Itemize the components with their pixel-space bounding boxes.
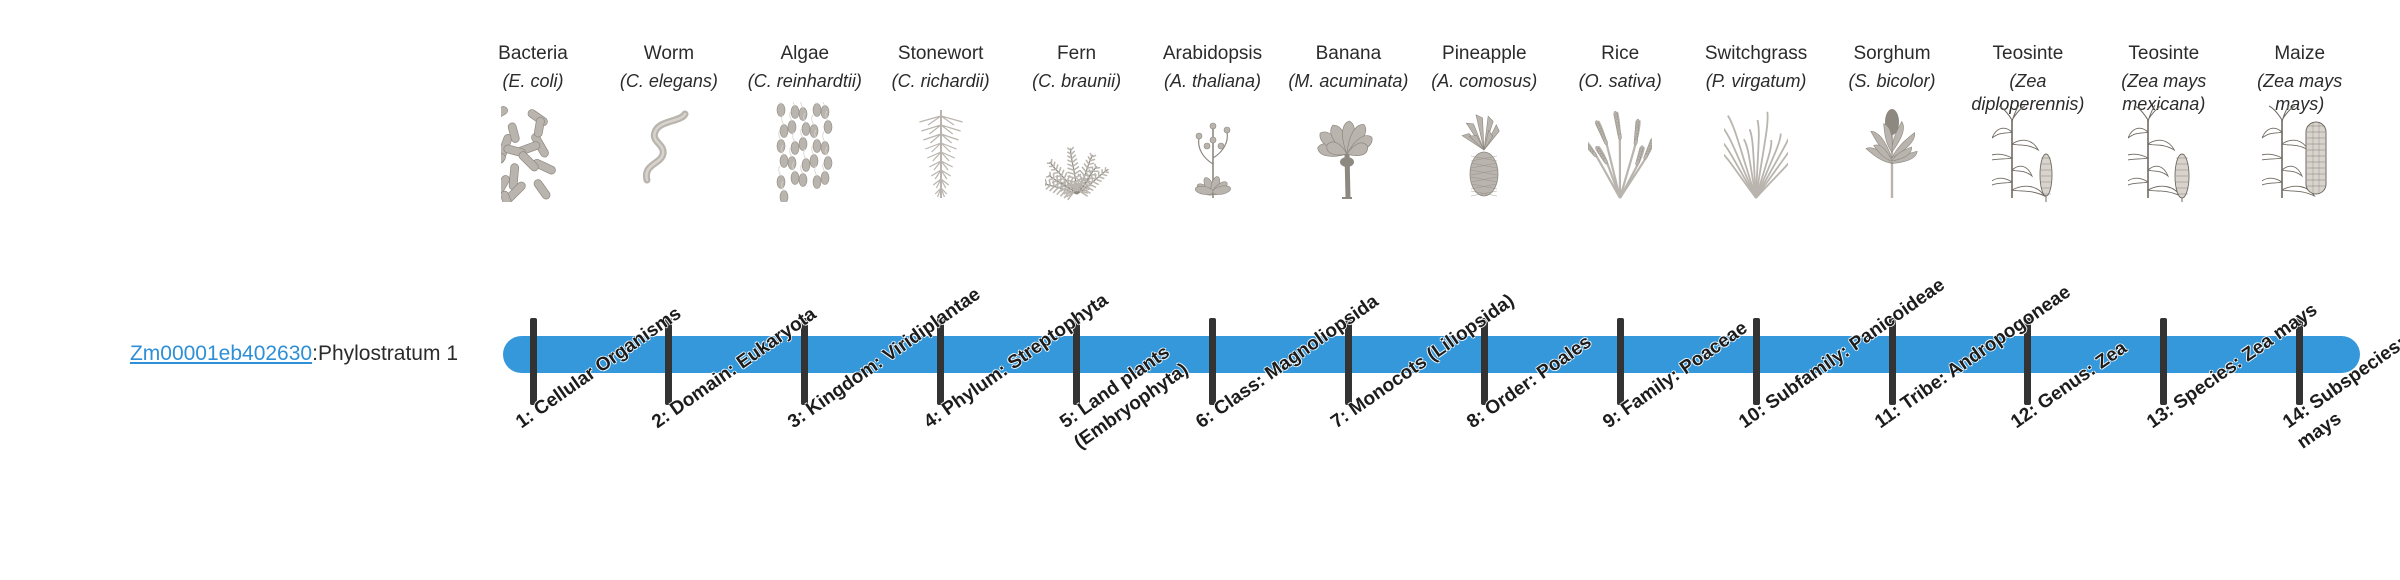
species-scientific-name: (O. sativa): [1555, 70, 1685, 93]
species-common-name: Sorghum: [1827, 42, 1957, 65]
species-common-name: Teosinte: [1963, 42, 2093, 65]
rank-number: 11:: [1871, 400, 1905, 432]
phylostratum-value: Phylostratum 1: [318, 342, 458, 366]
teosinte-mexicana-icon: [2099, 112, 2229, 202]
arabidopsis-icon: [1148, 112, 1278, 202]
switchgrass-icon: [1691, 112, 1821, 202]
species-scientific-name: (S. bicolor): [1827, 70, 1957, 93]
stonewort-icon: [876, 112, 1006, 202]
species-scientific-name: (C. reinhardtii): [740, 70, 870, 93]
species-common-name: Fern: [1012, 42, 1142, 65]
algae-icon: [740, 112, 870, 202]
species-common-name: Maize: [2235, 42, 2365, 65]
species-scientific-name: (E. coli): [468, 70, 598, 93]
species-common-name: Stonewort: [876, 42, 1006, 65]
sorghum-icon: [1827, 112, 1957, 202]
rank-line-1: Family:: [1618, 365, 1685, 420]
rank-number: 12:: [2007, 400, 2042, 433]
rank-number: 10:: [1735, 400, 1770, 433]
species-scientific-name: (M. acuminata): [1283, 70, 1413, 93]
gene-id-link[interactable]: Zm00001eb402630: [130, 342, 312, 366]
rank-number: 3:: [784, 406, 810, 433]
rank-number: 13:: [2143, 400, 2178, 433]
species-common-name: Banana: [1283, 42, 1413, 65]
pineapple-icon: [1419, 112, 1549, 202]
row-label: Zm00001eb402630: Phylostratum 1: [0, 334, 470, 374]
species-common-name: Pineapple: [1419, 42, 1549, 65]
rank-number: 6:: [1192, 406, 1218, 433]
rank-line-1: Order:: [1482, 370, 1542, 421]
rank-number: 4:: [920, 406, 946, 433]
fern-icon: [1012, 112, 1142, 202]
species-scientific-name: (C. braunii): [1012, 70, 1142, 93]
maize-icon: [2235, 112, 2365, 202]
species-common-name: Worm: [604, 42, 734, 65]
species-common-name: Teosinte: [2099, 42, 2229, 65]
teosinte-diploperennis-icon: [1963, 112, 2093, 202]
species-common-name: Rice: [1555, 42, 1685, 65]
species-common-name: Switchgrass: [1691, 42, 1821, 65]
species-scientific-name: (A. thaliana): [1148, 70, 1278, 93]
species-common-name: Bacteria: [468, 42, 598, 65]
species-scientific-name: (C. richardii): [876, 70, 1006, 93]
species-common-name: Algae: [740, 42, 870, 65]
rank-number: 5:: [1056, 406, 1082, 433]
species-common-name: Arabidopsis: [1148, 42, 1278, 65]
rank-line-1: Class:: [1210, 370, 1269, 420]
worm-icon: [604, 112, 734, 202]
rice-icon: [1555, 112, 1685, 202]
species-scientific-name: (A. comosus): [1419, 70, 1549, 93]
tick-mark-1: [530, 318, 537, 405]
banana-icon: [1283, 112, 1413, 202]
phylostratum-figure: Zm00001eb402630: Phylostratum 1 Bacteria…: [0, 0, 2400, 580]
bacteria-icon: [468, 112, 598, 202]
species-scientific-name: (C. elegans): [604, 70, 734, 93]
rank-line-1: Tribe:: [1897, 368, 1951, 415]
species-scientific-name: (P. virgatum): [1691, 70, 1821, 93]
